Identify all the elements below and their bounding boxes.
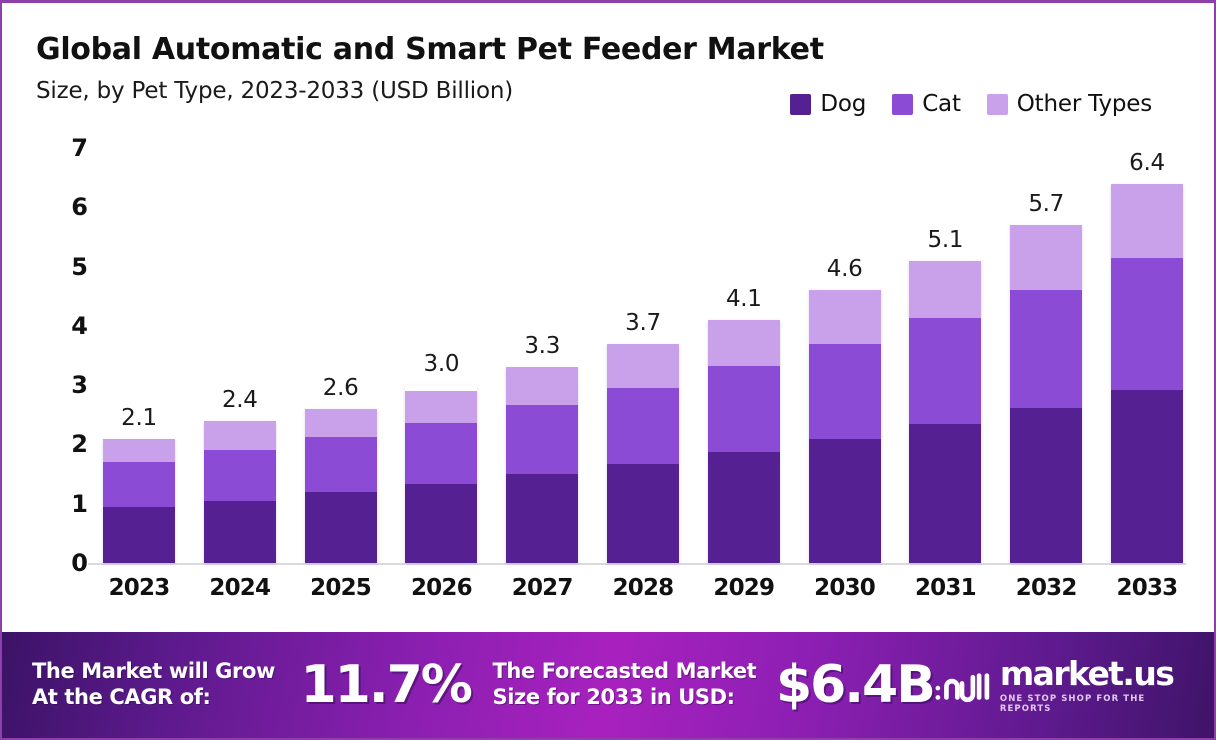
legend-item-cat[interactable]: Cat — [892, 91, 961, 117]
bar-column[interactable]: 5.1 — [904, 148, 986, 563]
bar-segment-other-types[interactable] — [708, 320, 780, 366]
bar-segment-cat[interactable] — [103, 462, 175, 506]
bar-segment-dog[interactable] — [103, 507, 175, 563]
bar-segment-other-types[interactable] — [506, 367, 578, 404]
bar-segment-cat[interactable] — [204, 450, 276, 500]
x-axis-label: 2031 — [904, 575, 986, 615]
infographic-root: Global Automatic and Smart Pet Feeder Ma… — [0, 0, 1216, 740]
bar-segment-dog[interactable] — [607, 464, 679, 563]
x-axis-label: 2026 — [400, 575, 482, 615]
bar-segment-other-types[interactable] — [204, 421, 276, 451]
bar-segment-dog[interactable] — [708, 452, 780, 563]
bar-total-label: 4.1 — [703, 286, 785, 312]
bar-total-label: 3.3 — [501, 333, 583, 359]
forecast-label: The Forecasted Market Size for 2033 in U… — [493, 659, 757, 710]
bar-segment-cat[interactable] — [1010, 290, 1082, 409]
bar-segment-cat[interactable] — [305, 437, 377, 492]
bar-column[interactable]: 2.4 — [199, 148, 281, 563]
bar-segment-other-types[interactable] — [1111, 184, 1183, 258]
bar-segment-dog[interactable] — [305, 492, 377, 563]
forecast-value: $6.4B — [776, 655, 934, 715]
bar-total-label: 5.7 — [1005, 191, 1087, 217]
stacked-bar[interactable] — [204, 421, 276, 563]
x-axis-label: 2030 — [804, 575, 886, 615]
x-axis-label: 2027 — [501, 575, 583, 615]
bar-total-label: 6.4 — [1106, 150, 1188, 176]
x-axis-label: 2028 — [602, 575, 684, 615]
bar-group: 2.12.42.63.03.33.74.14.65.15.76.4 — [98, 148, 1188, 563]
cagr-value: 11.7% — [301, 655, 471, 715]
stacked-bar[interactable] — [103, 439, 175, 564]
bar-segment-other-types[interactable] — [607, 344, 679, 388]
legend-label: Dog — [820, 91, 866, 117]
legend-label: Other Types — [1017, 91, 1152, 117]
bar-segment-cat[interactable] — [607, 388, 679, 464]
x-axis-labels: 2023202420252026202720282029203020312032… — [98, 575, 1188, 615]
bar-segment-dog[interactable] — [204, 501, 276, 563]
bar-segment-other-types[interactable] — [1010, 225, 1082, 290]
stacked-bar[interactable] — [1010, 225, 1082, 563]
cagr-label-line2: At the CAGR of: — [32, 685, 275, 711]
bar-segment-dog[interactable] — [809, 439, 881, 564]
bar-total-label: 3.0 — [400, 351, 482, 377]
stacked-bar[interactable] — [506, 367, 578, 563]
bar-total-label: 2.4 — [199, 387, 281, 413]
x-axis-label: 2024 — [199, 575, 281, 615]
bar-column[interactable]: 5.7 — [1005, 148, 1087, 563]
x-axis-line — [88, 563, 1186, 565]
bar-column[interactable]: 3.0 — [400, 148, 482, 563]
bar-segment-dog[interactable] — [405, 484, 477, 563]
y-tick-label: 4 — [71, 312, 88, 340]
bar-segment-other-types[interactable] — [809, 290, 881, 343]
stacked-bar[interactable] — [909, 261, 981, 563]
y-axis: 01234567 — [42, 148, 88, 563]
forecast-label-line2: Size for 2033 in USD: — [493, 685, 757, 711]
bar-segment-other-types[interactable] — [305, 409, 377, 437]
x-axis-label: 2029 — [703, 575, 785, 615]
legend-label: Cat — [922, 91, 961, 117]
stacked-bar[interactable] — [405, 385, 477, 563]
bar-segment-dog[interactable] — [506, 474, 578, 563]
logo-text: market.us ONE STOP SHOP FOR THE REPORTS — [1000, 657, 1196, 714]
x-axis-label: 2032 — [1005, 575, 1087, 615]
bar-total-label: 3.7 — [602, 310, 684, 336]
cagr-label: The Market will Grow At the CAGR of: — [32, 659, 275, 710]
bar-total-label: 5.1 — [904, 227, 986, 253]
cagr-label-line1: The Market will Grow — [32, 659, 275, 685]
bar-segment-cat[interactable] — [1111, 258, 1183, 391]
summary-banner: The Market will Grow At the CAGR of: 11.… — [2, 632, 1214, 738]
bar-segment-dog[interactable] — [1010, 408, 1082, 563]
bar-column[interactable]: 2.1 — [98, 148, 180, 563]
x-axis-label: 2025 — [300, 575, 382, 615]
bar-column[interactable]: 3.3 — [501, 148, 583, 563]
stacked-bar[interactable] — [607, 344, 679, 563]
stacked-bar[interactable] — [708, 320, 780, 563]
bar-column[interactable]: 3.7 — [602, 148, 684, 563]
bar-segment-other-types[interactable] — [103, 439, 175, 463]
y-tick-label: 2 — [71, 430, 88, 458]
stacked-bar[interactable] — [1111, 184, 1183, 563]
chart-legend: DogCatOther Types — [790, 91, 1152, 117]
bar-column[interactable]: 6.4 — [1106, 148, 1188, 563]
legend-item-dog[interactable]: Dog — [790, 91, 866, 117]
legend-item-other-types[interactable]: Other Types — [987, 91, 1152, 117]
y-tick-label: 0 — [71, 549, 88, 577]
bar-segment-dog[interactable] — [1111, 390, 1183, 563]
page-title: Global Automatic and Smart Pet Feeder Ma… — [36, 33, 1186, 66]
waveform-logo-icon — [934, 665, 990, 705]
y-tick-label: 6 — [71, 193, 88, 221]
bar-segment-cat[interactable] — [909, 318, 981, 424]
bar-segment-other-types[interactable] — [909, 261, 981, 319]
x-axis-label: 2023 — [98, 575, 180, 615]
y-tick-label: 5 — [71, 253, 88, 281]
bar-column[interactable]: 2.6 — [300, 148, 382, 563]
bar-segment-other-types[interactable] — [405, 391, 477, 422]
bar-segment-cat[interactable] — [708, 366, 780, 451]
stacked-bar[interactable] — [305, 409, 377, 563]
legend-swatch-dog — [790, 94, 811, 115]
bar-column[interactable]: 4.6 — [804, 148, 886, 563]
forecast-label-line1: The Forecasted Market — [493, 659, 757, 685]
bar-segment-cat[interactable] — [506, 405, 578, 474]
logo-tagline: ONE STOP SHOP FOR THE REPORTS — [1000, 694, 1196, 714]
plot-area: 2.12.42.63.03.33.74.14.65.15.76.4 — [98, 148, 1188, 563]
bar-column[interactable]: 4.1 — [703, 148, 785, 563]
bar-segment-dog[interactable] — [909, 424, 981, 563]
bar-total-label: 4.6 — [804, 256, 886, 282]
bar-total-label: 2.1 — [98, 405, 180, 431]
market-us-logo[interactable]: market.us ONE STOP SHOP FOR THE REPORTS — [934, 657, 1196, 714]
y-tick-label: 3 — [71, 371, 88, 399]
legend-swatch-cat — [892, 94, 913, 115]
y-tick-label: 1 — [71, 490, 88, 518]
bar-segment-cat[interactable] — [405, 423, 477, 485]
logo-word: market.us — [1000, 657, 1173, 690]
bar-segment-cat[interactable] — [809, 344, 881, 439]
legend-swatch-other — [987, 94, 1008, 115]
bar-total-label: 2.6 — [300, 375, 382, 401]
stacked-bar[interactable] — [809, 290, 881, 563]
x-axis-label: 2033 — [1106, 575, 1188, 615]
y-tick-label: 7 — [71, 134, 88, 162]
